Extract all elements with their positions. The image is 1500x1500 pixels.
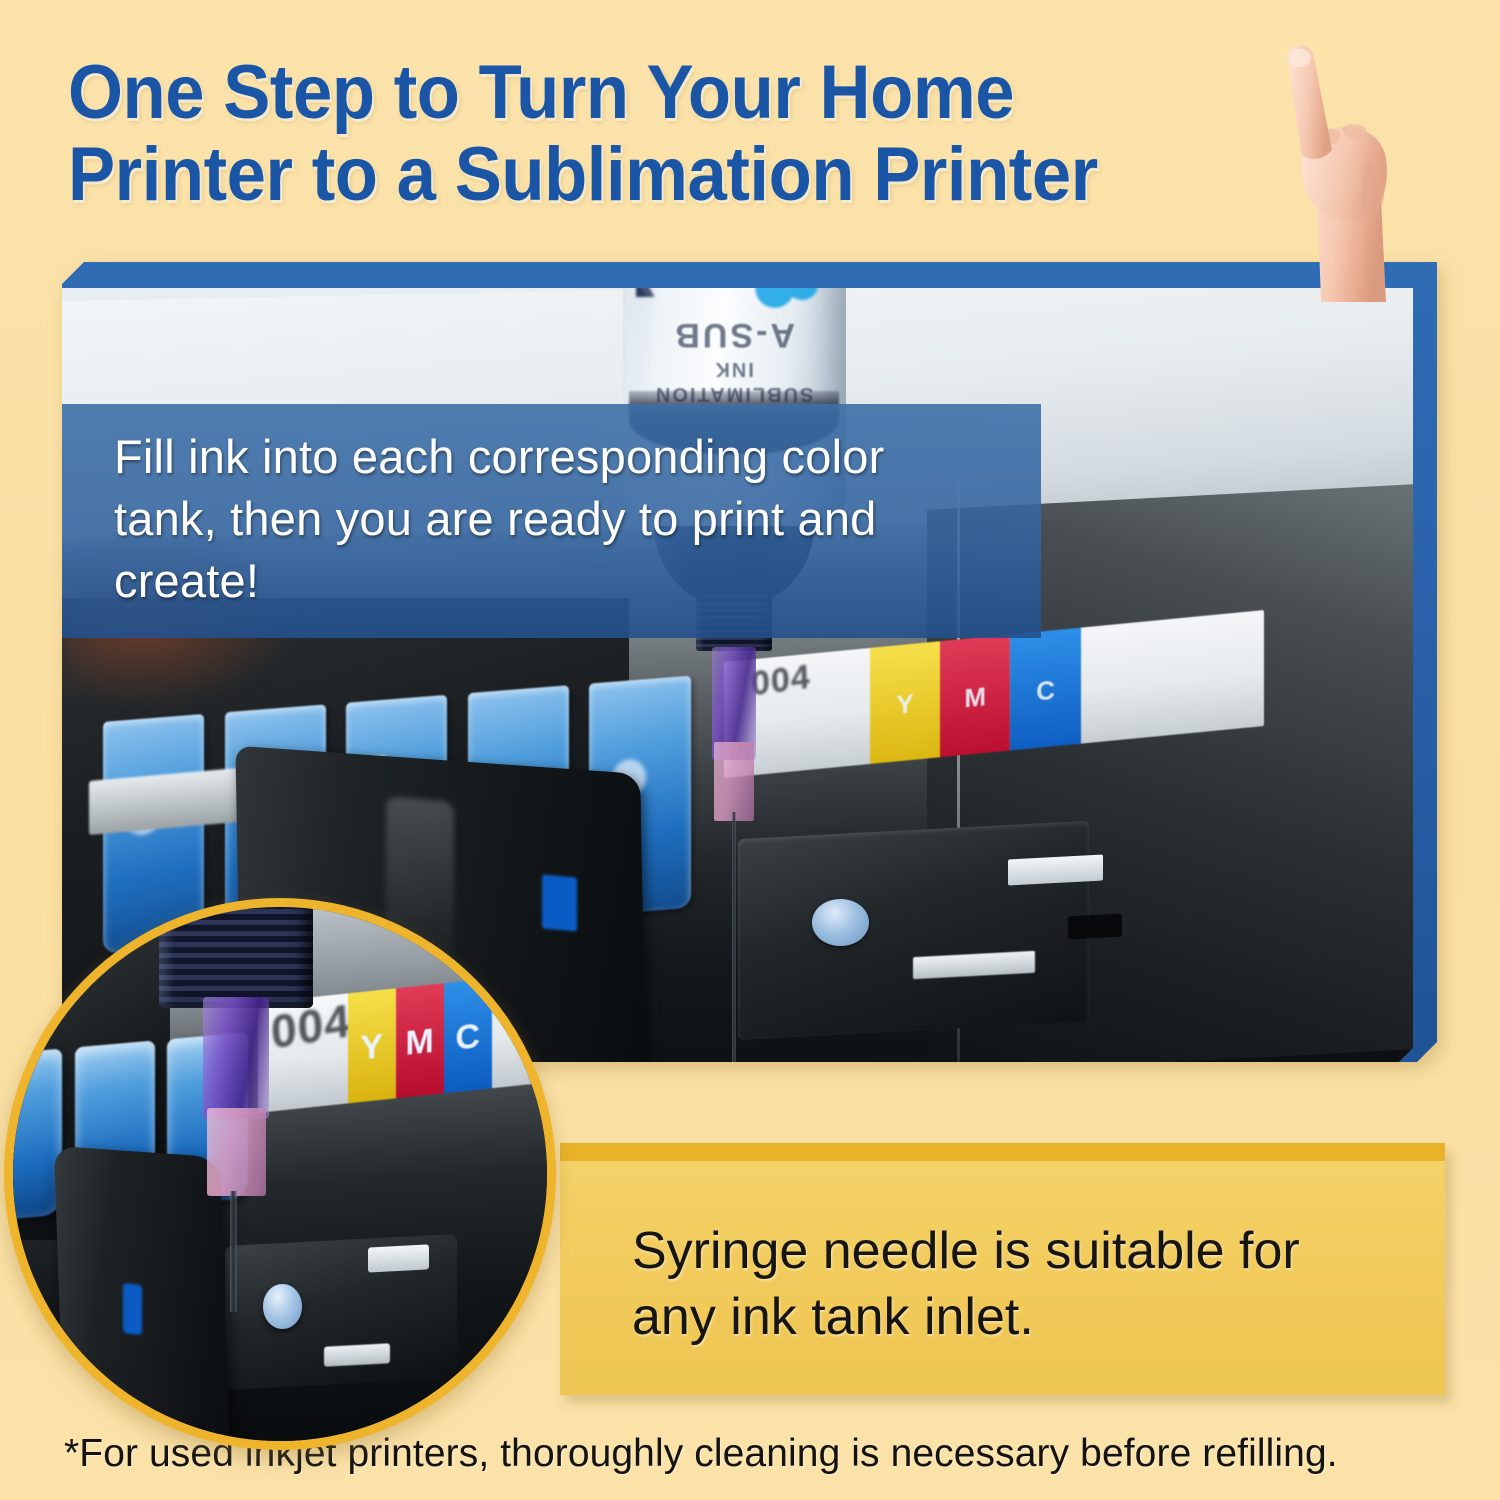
feature-caption-text: Syringe needle is suitable for any ink t… bbox=[632, 1219, 1422, 1350]
valve-highlight-bar bbox=[368, 1244, 429, 1272]
magenta-swatch-letter: M bbox=[405, 1023, 433, 1065]
syringe-needle bbox=[732, 812, 736, 1062]
droplet-swirl-icon bbox=[752, 288, 828, 309]
lever-blue-slot bbox=[123, 1283, 142, 1335]
magnified-syringe-lower-barrel bbox=[207, 1108, 266, 1196]
cyan-swatch-letter: C bbox=[455, 1018, 480, 1060]
tank-valve-block bbox=[738, 821, 1089, 1041]
tank-inlet-valve bbox=[812, 899, 869, 945]
valve-highlight-bar bbox=[324, 1343, 390, 1366]
ink-tank-cap bbox=[4, 1048, 62, 1221]
tank-port bbox=[1068, 914, 1122, 940]
magnified-tank-inlet-valve bbox=[263, 1284, 302, 1328]
valve-highlight-bar bbox=[1008, 854, 1103, 885]
syringe-lower-barrel bbox=[714, 742, 754, 820]
magnified-syringe-barrel bbox=[203, 997, 269, 1118]
magnified-syringe-needle bbox=[230, 1191, 237, 1312]
yellow-swatch: Y bbox=[348, 989, 396, 1104]
magenta-swatch-letter: M bbox=[964, 682, 986, 715]
magnified-bottle-neck-cap bbox=[159, 898, 314, 1008]
feature-caption-panel: Syringe needle is suitable for any ink t… bbox=[560, 1143, 1445, 1395]
page-title: One Step to Turn Your Home Printer to a … bbox=[68, 52, 1221, 216]
photo-caption-band: Fill ink into each corresponding color t… bbox=[62, 404, 1041, 638]
magenta-swatch: M bbox=[940, 635, 1010, 758]
yellow-swatch-letter: Y bbox=[896, 689, 913, 722]
bottle-label-line1: SUBLIMATION INK bbox=[640, 356, 827, 406]
yellow-swatch: Y bbox=[870, 642, 940, 765]
cyan-swatch: C bbox=[444, 979, 492, 1094]
magnified-scene: 004 Y M C bbox=[4, 898, 556, 1450]
promo-canvas: One Step to Turn Your Home Printer to a … bbox=[0, 0, 1500, 1500]
magenta-swatch: M bbox=[396, 984, 444, 1099]
cyan-swatch: C bbox=[1010, 628, 1080, 751]
cyan-swatch-letter: C bbox=[1036, 675, 1055, 708]
bottle-label: SUBLIMATION INK A-SUB bbox=[640, 320, 827, 406]
bottle-brand-name: A-SUB bbox=[640, 313, 827, 356]
magnified-detail-circle: 004 Y M C bbox=[4, 898, 556, 1450]
yellow-swatch-letter: Y bbox=[360, 1028, 383, 1069]
bottle-splash-graphic bbox=[636, 288, 725, 297]
